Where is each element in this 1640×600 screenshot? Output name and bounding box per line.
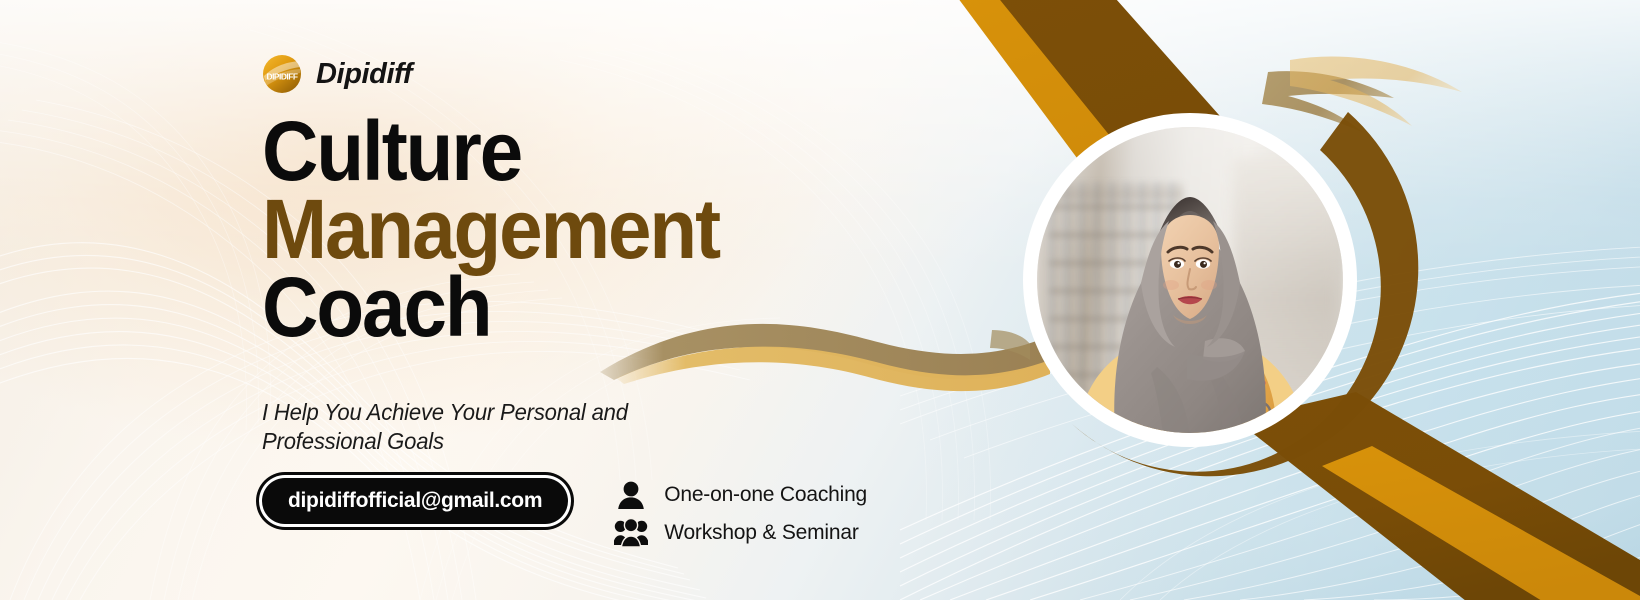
single-person-icon <box>614 480 648 510</box>
banner-content: DIPIDIFF Dipidiff Culture Management Coa… <box>262 54 1022 548</box>
coach-portrait <box>1030 120 1350 440</box>
services-list: One-on-one Coaching Workshop & Se <box>614 478 867 548</box>
tagline: I Help You Achieve Your Personal and Pro… <box>262 398 665 456</box>
page-title: Culture Management Coach <box>262 112 969 346</box>
headline-line-1: Culture <box>262 112 969 190</box>
marketing-banner: DIPIDIFF Dipidiff Culture Management Coa… <box>0 0 1640 600</box>
portrait-photo <box>1037 127 1343 433</box>
cta-row: dipidiffofficial@gmail.com One-on-one Co… <box>262 478 1022 548</box>
group-people-icon <box>614 518 648 548</box>
service-label: One-on-one Coaching <box>664 483 867 507</box>
dipidiff-circle-logo-icon: DIPIDIFF <box>262 54 302 94</box>
svg-text:DIPIDIFF: DIPIDIFF <box>267 71 298 81</box>
headline-line-3: Coach <box>262 268 969 346</box>
brand-logo[interactable]: DIPIDIFF Dipidiff <box>262 54 1022 94</box>
email-contact-button[interactable]: dipidiffofficial@gmail.com <box>262 478 568 524</box>
list-item: One-on-one Coaching <box>614 480 867 510</box>
brand-name: Dipidiff <box>316 58 412 91</box>
service-label: Workshop & Seminar <box>664 521 858 545</box>
list-item: Workshop & Seminar <box>614 518 867 548</box>
portrait-person-illustration <box>1037 127 1343 433</box>
headline-line-2: Management <box>262 190 969 268</box>
